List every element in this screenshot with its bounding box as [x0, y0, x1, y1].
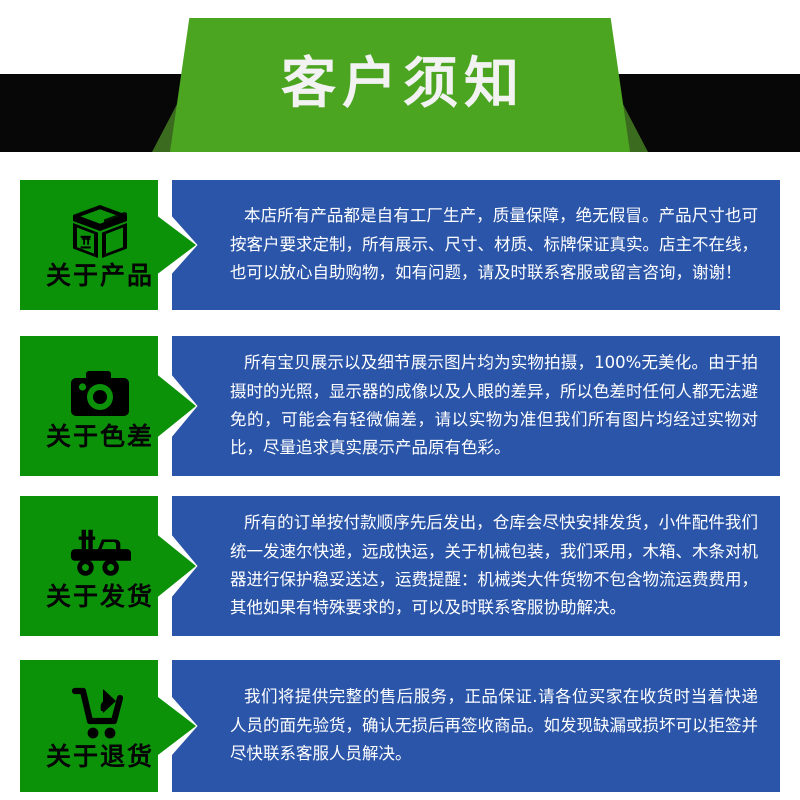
- section-label-color[interactable]: 关于色差: [20, 336, 196, 476]
- notice-row: 关于产品 本店所有产品都是自有工厂生产，质量保障，绝无假冒。产品尺寸也可按客户要…: [0, 180, 800, 310]
- package-box-icon: [69, 203, 131, 261]
- forklift-truck-icon: [69, 524, 131, 582]
- section-body-text: 所有宝贝展示以及细节展示图片均为实物拍摄，100%无美化。由于拍摄时的光照，显示…: [172, 349, 780, 463]
- section-text-panel: 所有的订单按付款顺序先后发出，仓库会尽快安排发货，小件配件我们统一发速尔快递，远…: [172, 496, 780, 636]
- section-body-text: 所有的订单按付款顺序先后发出，仓库会尽快安排发货，小件配件我们统一发速尔快递，远…: [172, 509, 780, 623]
- notice-row: 关于退货 我们将提供完整的售后服务，正品保证.请各位买家在收货时当着快递人员的面…: [0, 660, 800, 790]
- section-label-return[interactable]: 关于退货: [20, 660, 196, 792]
- camera-icon: [69, 364, 131, 422]
- section-body-text: 本店所有产品都是自有工厂生产，质量保障，绝无假冒。产品尺寸也可按客户要求定制，所…: [172, 202, 780, 287]
- ribbon-banner: 客户须知: [170, 18, 630, 152]
- section-text-panel: 所有宝贝展示以及细节展示图片均为实物拍摄，100%无美化。由于拍摄时的光照，显示…: [172, 336, 780, 476]
- customer-notice-page: 客户须知: [0, 0, 800, 800]
- section-label-text: 关于色差: [46, 424, 154, 449]
- notice-row: 关于色差 所有宝贝展示以及细节展示图片均为实物拍摄，100%无美化。由于拍摄时的…: [0, 336, 800, 466]
- section-label-text: 关于退货: [46, 744, 154, 769]
- section-label-shipping[interactable]: 关于发货: [20, 496, 196, 636]
- notice-row: 关于发货 所有的订单按付款顺序先后发出，仓库会尽快安排发货，小件配件我们统一发速…: [0, 496, 800, 626]
- header-banner: 客户须知: [0, 0, 800, 152]
- section-text-panel: 我们将提供完整的售后服务，正品保证.请各位买家在收货时当着快递人员的面先验货，确…: [172, 660, 780, 792]
- page-title: 客户须知: [275, 56, 525, 115]
- return-cart-icon: [69, 684, 131, 742]
- section-label-product[interactable]: 关于产品: [20, 180, 196, 310]
- section-body-text: 我们将提供完整的售后服务，正品保证.请各位买家在收货时当着快递人员的面先验货，确…: [172, 683, 780, 768]
- section-label-text: 关于产品: [46, 263, 154, 288]
- section-label-text: 关于发货: [46, 584, 154, 609]
- section-text-panel: 本店所有产品都是自有工厂生产，质量保障，绝无假冒。产品尺寸也可按客户要求定制，所…: [172, 180, 780, 310]
